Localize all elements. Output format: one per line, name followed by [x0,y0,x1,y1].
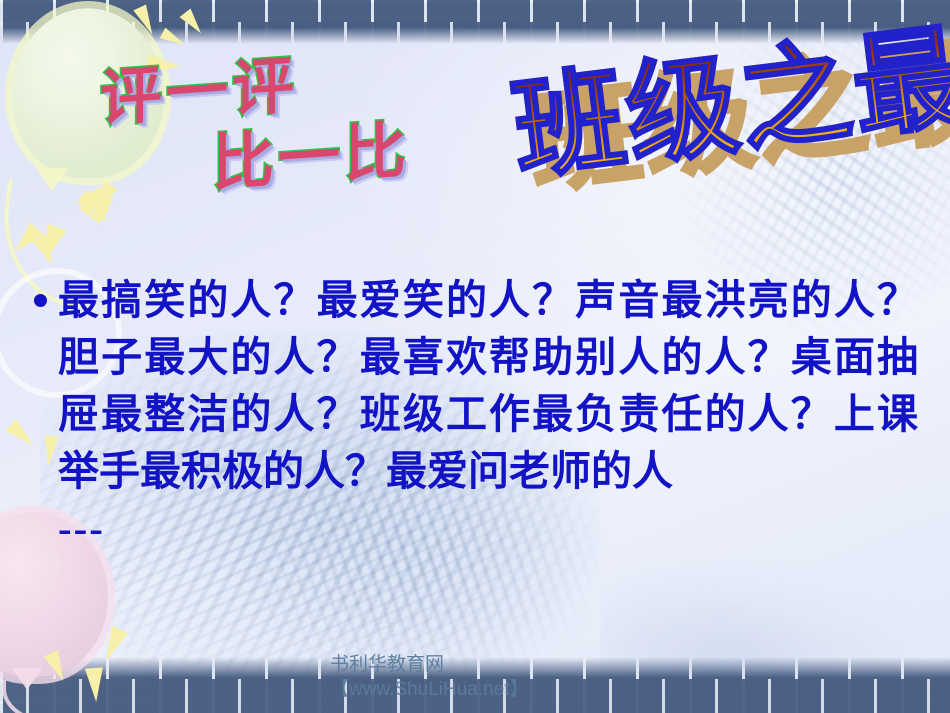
brick-wall-top-border [0,0,950,44]
body-paragraph: 最搞笑的人？最爱笑的人？声音最洪亮的人？胆子最大的人？最喜欢帮助别人的人？桌面抽… [58,272,918,500]
confetti-triangle-icon [9,222,44,258]
body-content: 最搞笑的人？最爱笑的人？声音最洪亮的人？胆子最大的人？最喜欢帮助别人的人？桌面抽… [34,272,918,557]
bullet-dot-icon [34,294,47,307]
confetti-triangle-icon [179,8,206,37]
slide-canvas: 评一评比一比 班级之最 班级之最 最搞笑的人？最爱笑的人？声音最洪亮的人？胆子最… [0,0,950,713]
confetti-triangle-icon [44,650,71,684]
confetti-triangle-icon [133,4,158,37]
wordart-title-left: 评一评比一比 [100,41,410,209]
wordart-title-right-text: 班级之最 [506,14,950,194]
wordart-title-left-line1: 评一评 [100,51,298,134]
confetti-triangle-icon [85,667,105,702]
bullet-list-item: 最搞笑的人？最爱笑的人？声音最洪亮的人？胆子最大的人？最喜欢帮助别人的人？桌面抽… [34,272,918,500]
balloon-pink-knot-icon [12,668,42,690]
confetti-triangle-icon [32,234,60,268]
confetti-triangle-icon [98,626,128,664]
balloon-pink-string-icon [2,680,64,713]
wordart-title-right: 班级之最 班级之最 [507,21,950,188]
background-photo-lower-right [600,560,950,713]
confetti-triangle-icon [78,190,102,207]
balloon-yellow-knot-icon [36,168,68,192]
confetti-triangle-icon [160,28,189,51]
wordart-title-right-shadow: 班级之最 [523,35,950,202]
site-watermark: 书利华教育网【www.ShuLiHua.net】 [330,652,556,702]
body-paragraph-tail: --- [58,500,918,557]
confetti-triangle-icon [35,224,66,265]
